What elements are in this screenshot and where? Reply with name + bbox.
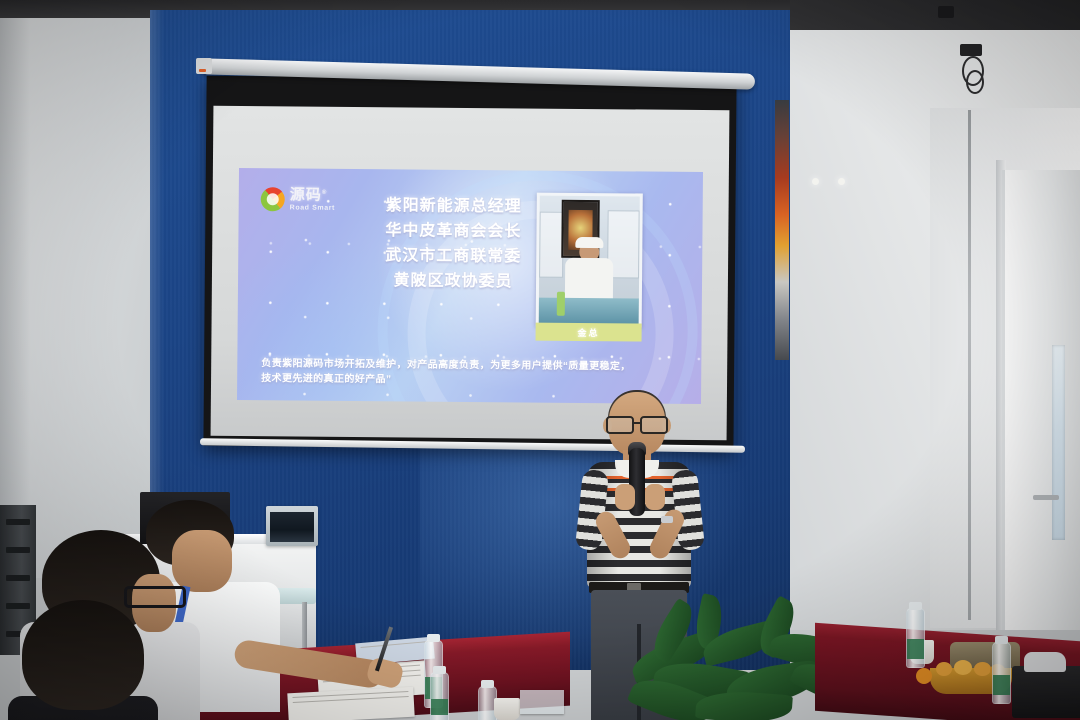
fruit [974,662,991,676]
bottle-cap [481,680,494,688]
bottle-label [993,675,1010,695]
fruit [954,660,972,675]
conference-room-photo: 源码® Road Smart 紫阳新能源总经理 华中皮革商会会长 武汉市工商联常… [0,0,1080,720]
plastic-tray [520,690,564,714]
slide-title-line-3: 武汉市工商联常委 [348,243,558,270]
slide-portrait-photo [536,193,643,328]
photo-desk [539,298,639,325]
registered-mark-icon: ® [322,190,327,196]
attendee-front-left [8,600,178,720]
logo-text-block: 源码® Road Smart [290,187,336,211]
photo-cabinet-left [539,212,564,278]
slide-title-line-2: 华中皮革商会会长 [348,218,558,245]
fruit [936,662,952,676]
photo-bottle [557,292,565,316]
door-window-pane [1052,345,1065,540]
wall-corner-seam [968,110,971,620]
bottle-cap [427,634,440,642]
room-door[interactable] [1002,170,1080,630]
slide-footer-text: 负责紫阳源码市场开拓及维护，对产品高度负责，为更多用户提供“质量更稳定， 技术更… [261,356,681,390]
tissue-box [1012,666,1080,718]
tissue-sheet [1024,652,1066,672]
slide-photo-caption-text: 金总 [578,325,600,338]
wall-left-shading [0,18,30,578]
slide-photo-caption: 金总 [536,323,642,342]
photo-person-cap [575,237,603,248]
ceiling-camera-icon [938,6,954,18]
screen-bracket-indicator [199,69,206,72]
presenter-hand-right [645,484,665,510]
ceiling-spotlight-icon-2 [838,178,845,185]
ceiling-mount-bracket-icon [960,44,982,56]
water-bottle [992,642,1011,704]
door-handle-icon[interactable] [1033,495,1059,500]
slide-title-list: 紫阳新能源总经理 华中皮革商会会长 武汉市工商联常委 黄陂区政协委员 [348,193,559,295]
rack-slot [6,519,30,525]
ceiling-spotlight-icon [812,178,819,185]
company-logo-icon [261,187,285,211]
slide-title-line-4: 黄陂区政协委员 [348,268,558,295]
glasses-lens-left [606,416,634,434]
presenter-glasses-icon [606,416,668,430]
bottle-cap [909,602,922,610]
presenter-wristwatch-icon [661,516,673,523]
portrait-photo-content [539,196,640,325]
attendee-hair [22,600,144,710]
wall-banner-strip [775,100,789,360]
bottle-cap [433,666,446,674]
photo-person-body [565,258,613,300]
water-bottle [906,608,925,668]
logo-english-name: Road Smart [290,204,335,211]
water-bottle [430,672,449,720]
glasses-lens-right [640,416,668,434]
slide-title-line-1: 紫阳新能源总经理 [349,193,559,220]
bottle-label [431,699,448,715]
paper-cup [494,698,520,720]
bottle-label [907,639,924,659]
screen-mount-bracket [196,58,212,74]
ceiling-cable-coil-icon-2 [966,70,984,94]
bottle-cap [995,636,1008,644]
logo-chinese-name: 源码® [290,187,335,202]
orange-fruit [916,668,932,684]
presenter-hand-left [615,484,635,510]
projected-slide: 源码® Road Smart 紫阳新能源总经理 华中皮革商会会长 武汉市工商联常… [237,168,703,404]
